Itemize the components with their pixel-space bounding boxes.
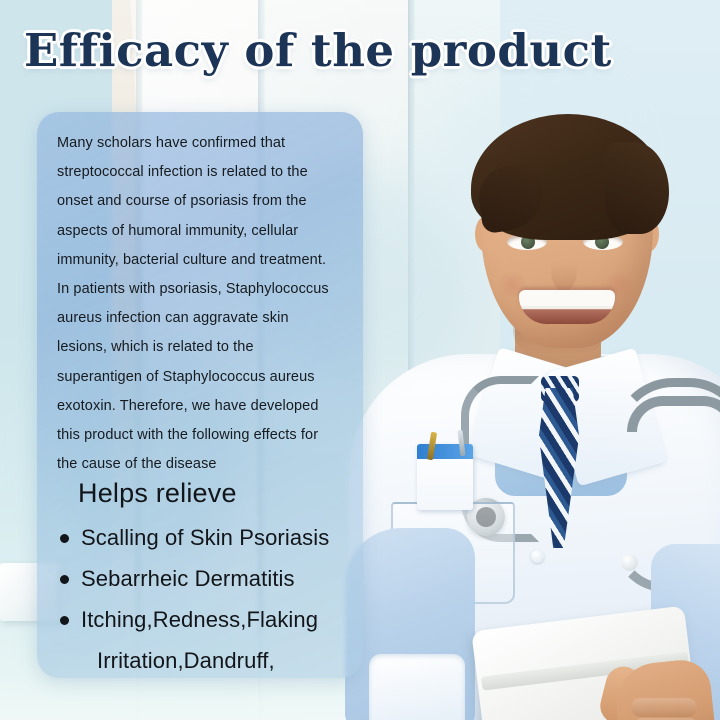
paragraph-line: aureus infection can aggravate skin: [57, 304, 349, 333]
paragraph-line: lesions, which is related to the: [57, 333, 349, 362]
bullet-dot-icon: [60, 575, 69, 584]
coat-sleeve-cuff: [369, 654, 465, 720]
paragraph-line: onset and course of psoriasis from the: [57, 187, 349, 216]
list-item-label: Scalling of Skin Psoriasis: [81, 525, 329, 550]
doctor-photo: [355, 58, 720, 720]
list-item-label: Irritation,Dandruff,: [97, 648, 275, 673]
nose: [551, 248, 577, 292]
bullet-dot-icon: [60, 534, 69, 543]
page-title: Efficacy of the product: [24, 24, 612, 77]
body-paragraph: Many scholars have confirmed that strept…: [57, 129, 349, 479]
paragraph-line: streptococcal infection is related to th…: [57, 158, 349, 187]
list-item-label: Sebarrheic Dermatitis: [81, 566, 295, 591]
paragraph-line: In patients with psoriasis, Staphylococc…: [57, 275, 349, 304]
poster-canvas: Efficacy of the product Many scholars ha…: [0, 0, 720, 720]
paragraph-line: exotoxin. Therefore, we have developed: [57, 392, 349, 421]
paragraph-line: this product with the following effects …: [57, 421, 349, 450]
coat-button: [531, 550, 544, 563]
list-item-label: Itching,Redness,Flaking: [81, 607, 318, 632]
paragraph-line: immunity, bacterial culture and treatmen…: [57, 246, 349, 275]
benefits-list: Scalling of Skin Psoriasis Sebarrheic De…: [59, 517, 359, 681]
smiling-mouth: [519, 290, 615, 324]
hair-side: [605, 142, 669, 234]
paragraph-line: Many scholars have confirmed that: [57, 129, 349, 158]
list-item: Scalling of Skin Psoriasis: [59, 517, 359, 558]
finger: [631, 698, 697, 717]
list-item: Sebarrheic Dermatitis: [59, 558, 359, 599]
text-panel: Many scholars have confirmed that strept…: [37, 112, 363, 678]
stethoscope-earpiece: [621, 554, 638, 571]
list-item: Itching,Redness,Flaking: [59, 599, 359, 640]
paragraph-line: aspects of humoral immunity, cellular: [57, 217, 349, 246]
bullet-dot-icon: [60, 616, 69, 625]
list-item-continuation: Irritation,Dandruff,: [59, 640, 359, 681]
subheading-helps-relieve: Helps relieve: [78, 476, 237, 510]
paragraph-line: superantigen of Staphylococcus aureus: [57, 363, 349, 392]
